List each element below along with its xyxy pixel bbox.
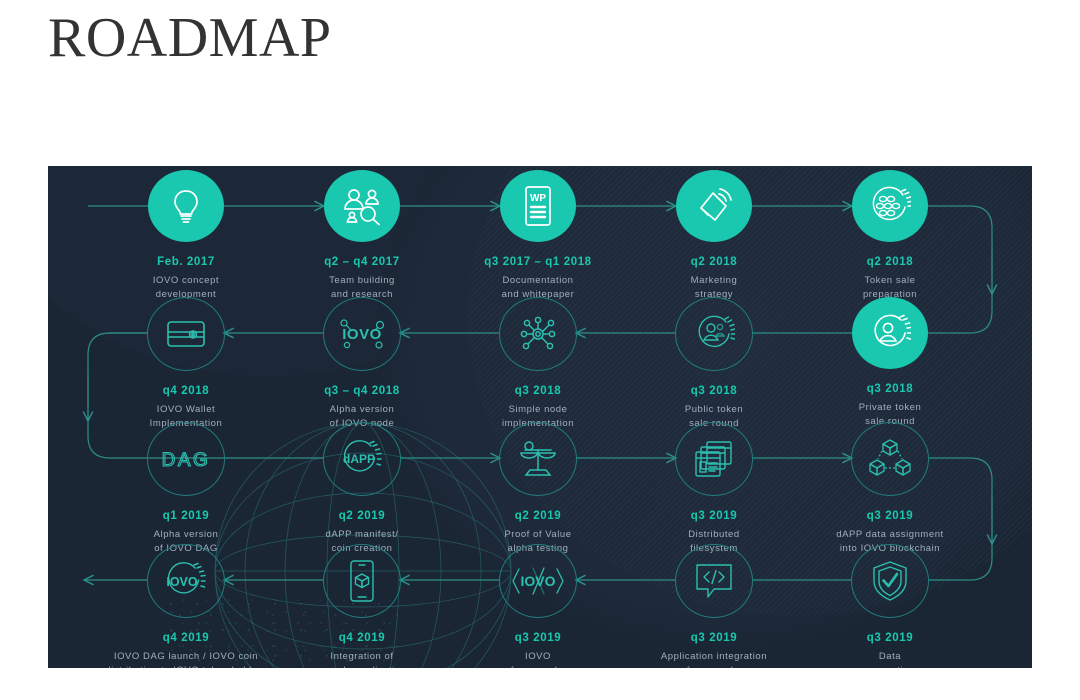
node-icon-bubble: IOVO [147, 544, 225, 618]
roadmap-node[interactable]: q3 2019 Distributed filesystem [616, 422, 812, 555]
shield-check-icon [871, 560, 909, 602]
dag-icon: DAG [162, 445, 210, 473]
node-date: q3 2019 [616, 632, 812, 646]
node-icon-bubble [675, 544, 753, 618]
node-description: Data encryption [792, 650, 988, 668]
roadmap-node[interactable]: Feb. 2017 IOVO concept development [88, 170, 284, 301]
dapp-icon: dAPP [339, 438, 385, 480]
roadmap-node[interactable]: IOVO q3 – q4 2018 Alpha version of IOVO … [264, 297, 460, 430]
coin-stack-icon [869, 185, 911, 227]
iovo-coin-icon: IOVO [163, 560, 209, 602]
node-network-icon [517, 313, 559, 355]
roadmap-node[interactable]: q3 2018 Simple node implementation [440, 297, 636, 430]
node-icon-bubble [324, 170, 400, 242]
roadmap-node[interactable]: q4 2019 Integration of example applicati… [264, 544, 460, 668]
node-icon-bubble [499, 297, 577, 371]
roadmap-node[interactable]: q3 2019 Application integration framewor… [616, 544, 812, 668]
node-icon-bubble [851, 422, 929, 496]
roadmap-node[interactable]: IOVO q4 2019 IOVO DAG launch / IOVO coin… [88, 544, 284, 668]
svg-text:IOVO: IOVO [342, 326, 382, 343]
page-title: ROADMAP [48, 8, 332, 70]
roadmap-node[interactable]: q2 2018 Marketing strategy [616, 170, 812, 301]
node-icon-bubble [676, 170, 752, 242]
lightbulb-icon [166, 186, 206, 226]
node-icon-bubble: IOVO [323, 297, 401, 371]
node-icon-bubble [499, 422, 577, 496]
roadmap-node[interactable]: WP q3 2017 – q1 2018 Documentation and w… [440, 170, 636, 301]
roadmap-node[interactable]: q3 2019 Data encryption [792, 544, 988, 668]
public-token-icon [693, 313, 735, 355]
node-date: q3 2017 – q1 2018 [440, 256, 636, 270]
roadmap-node[interactable]: q3 2019 dAPP data assignment into IOVO b… [792, 422, 988, 555]
wallet-icon [165, 317, 207, 351]
svg-text:WP: WP [530, 193, 546, 204]
roadmap-node[interactable]: dAPP q2 2019 dAPP manifest/ coin creatio… [264, 422, 460, 555]
svg-text:dAPP: dAPP [343, 452, 375, 466]
node-icon-bubble [852, 170, 928, 242]
node-icon-bubble [147, 297, 225, 371]
documents-icon [693, 439, 735, 479]
node-description: Integration of example applications [264, 650, 460, 668]
roadmap-node[interactable]: q2 2018 Token sale preparation [792, 170, 988, 301]
roadmap-node[interactable]: q3 2018 Private token sale round [792, 297, 988, 428]
iovo-framework-icon: IOVO [510, 562, 566, 600]
node-icon-bubble: WP [500, 170, 576, 242]
node-date: q3 2019 [792, 510, 988, 524]
node-icon-bubble: IOVO [499, 544, 577, 618]
node-icon-bubble [148, 170, 224, 242]
roadmap-panel: Feb. 2017 IOVO concept development q2 – … [48, 166, 1032, 668]
node-date: q2 2019 [264, 510, 460, 524]
svg-text:DAG: DAG [162, 450, 210, 471]
iovo-node-icon: IOVO [337, 316, 387, 352]
node-icon-bubble [675, 297, 753, 371]
roadmap-node[interactable]: q2 – q4 2017 Team building and research [264, 170, 460, 301]
roadmap-node[interactable]: DAG q1 2019 Alpha version of IOVO DAG [88, 422, 284, 555]
megaphone-icon [693, 186, 735, 226]
mobile-app-icon [347, 559, 377, 603]
node-date: q2 2018 [792, 256, 988, 270]
node-description: Application integration frameworks [616, 650, 812, 668]
roadmap-node[interactable]: q4 2018 IOVO Wallet Implementation [88, 297, 284, 430]
node-date: Feb. 2017 [88, 256, 284, 270]
node-date: q4 2018 [88, 385, 284, 399]
scales-icon [517, 439, 559, 479]
node-date: q1 2019 [88, 510, 284, 524]
node-date: q3 2018 [792, 383, 988, 397]
node-description: IOVO frameworks [440, 650, 636, 668]
node-date: q2 2018 [616, 256, 812, 270]
team-search-icon [341, 186, 383, 226]
private-token-icon [869, 312, 911, 354]
blockchain-cubes-icon [867, 438, 913, 480]
node-date: q3 2019 [792, 632, 988, 646]
node-icon-bubble [323, 544, 401, 618]
node-icon-bubble: DAG [147, 422, 225, 496]
node-icon-bubble [675, 422, 753, 496]
node-date: q3 2018 [440, 385, 636, 399]
node-date: q3 2019 [440, 632, 636, 646]
node-date: q3 2018 [616, 385, 812, 399]
node-date: q2 2019 [440, 510, 636, 524]
roadmap-node[interactable]: IOVO q3 2019 IOVO frameworks [440, 544, 636, 668]
node-date: q3 2019 [616, 510, 812, 524]
node-date: q4 2019 [88, 632, 284, 646]
node-icon-bubble [852, 297, 928, 369]
roadmap-node[interactable]: q3 2018 Public token sale round [616, 297, 812, 430]
node-date: q4 2019 [264, 632, 460, 646]
node-date: q3 – q4 2018 [264, 385, 460, 399]
code-bubble-icon [693, 561, 735, 601]
roadmap-node[interactable]: q2 2019 Proof of Value alpha testing [440, 422, 636, 555]
node-date: q2 – q4 2017 [264, 256, 460, 270]
node-icon-bubble [851, 544, 929, 618]
whitepaper-icon: WP [521, 185, 555, 227]
svg-text:IOVO: IOVO [166, 575, 198, 589]
svg-text:IOVO: IOVO [520, 573, 555, 589]
node-icon-bubble: dAPP [323, 422, 401, 496]
